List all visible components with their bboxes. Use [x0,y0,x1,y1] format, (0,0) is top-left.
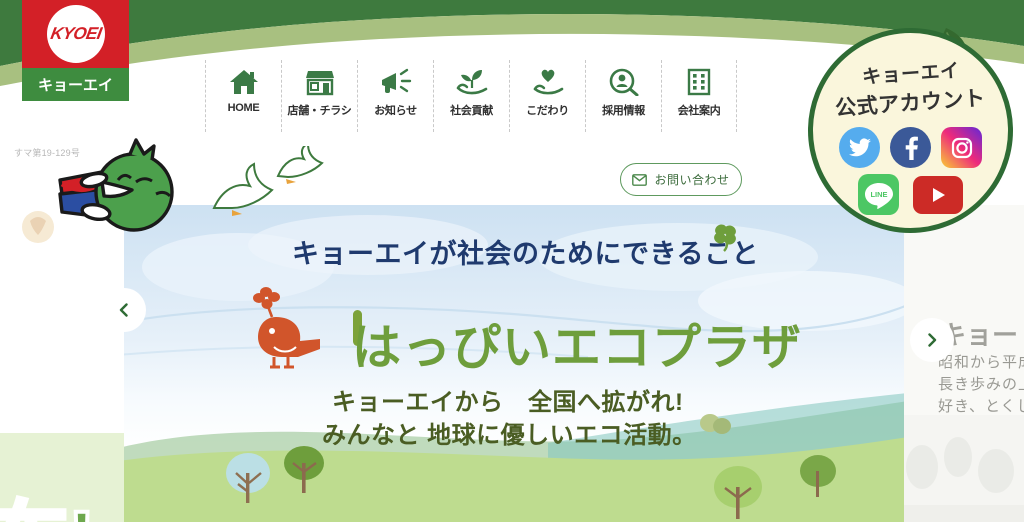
hero-slide-previous[interactable]: 布! 売形態です [0,205,124,522]
twitter-icon[interactable] [839,127,880,168]
logo-wordmark: KYOEI [49,24,103,44]
social-links-row-2: LINE [858,174,963,215]
nav-item-company[interactable]: 会社案内 [661,60,737,132]
registration-number: すマ第19-129号 [14,146,80,159]
hero-title: はっぴいエコプラザ [352,308,802,379]
nav-item-home[interactable]: HOME [205,60,281,132]
logo-name-plate: キョーエイ [22,68,129,101]
nav-item-recruit[interactable]: 採用情報 [585,60,661,132]
site-logo[interactable]: KYOEI キョーエイ [22,0,129,101]
logo-mark: KYOEI [22,0,129,68]
carousel-next-button[interactable] [910,318,954,362]
nav-item-commitment[interactable]: こだわり [509,60,585,132]
prev-slide-headline: 布! [0,473,95,522]
main-navigation: HOME 店舗・チラシ お知らせ [205,60,737,132]
next-slide-line-2: 長き歩みの上 [938,374,1024,396]
instagram-icon[interactable] [941,127,982,168]
mail-icon [632,174,647,186]
nav-item-news-label: お知らせ [374,102,417,118]
contact-button[interactable]: お問い合わせ [620,163,742,196]
official-account-badge: キョーエイ 公式アカウント LINE [808,28,1013,233]
store-icon [305,64,335,100]
hero-eyebrow: キョーエイが社会のためにできること [292,232,759,271]
contact-button-label: お問い合わせ [654,171,729,188]
next-slide-line-1: 昭和から平成 [938,352,1024,374]
page-root: 布! 売形態です キョー 昭和から平成 長き歩みの上 好き、とくし [0,0,1024,522]
nav-item-recruit-label: 採用情報 [602,102,645,118]
nav-item-social-contribution[interactable]: 社会貢献 [433,60,509,132]
home-icon [229,64,259,100]
building-icon [685,64,713,100]
badge-line-2: 公式アカウント [834,82,986,122]
hand-sprout-icon [456,64,488,100]
logo-name-text: キョーエイ [38,74,113,95]
clover-icon [710,222,740,252]
chevron-right-icon [925,333,939,347]
nav-item-store-flyer-label: 店舗・チラシ [288,102,352,118]
line-icon[interactable]: LINE [858,174,899,215]
social-links-row-1 [839,127,982,168]
next-slide-body: 昭和から平成 長き歩みの上 好き、とくし [938,352,1024,417]
hero-subtitle-line-2: みんなと 地球に優しいエコ活動。 [322,415,697,450]
nav-item-store-flyer[interactable]: 店舗・チラシ [281,60,357,132]
nav-item-news[interactable]: お知らせ [357,60,433,132]
svg-text:LINE: LINE [870,190,887,199]
hero-subtitle-line-1: キョーエイから 全国へ拡がれ! [332,382,684,417]
next-slide-line-3: 好き、とくし [938,396,1024,418]
chevron-left-icon [117,303,131,317]
hand-heart-icon [532,64,564,100]
facebook-icon[interactable] [890,127,931,168]
nav-item-commitment-label: こだわり [526,102,569,118]
person-search-icon [609,64,639,100]
flying-birds-decoration [196,146,336,232]
nav-item-company-label: 会社案内 [678,102,721,118]
nav-item-social-contribution-label: 社会貢献 [450,102,493,118]
carousel-prev-button[interactable] [102,288,146,332]
youtube-icon[interactable] [913,176,963,214]
megaphone-icon [380,64,412,100]
nav-item-home-label: HOME [228,102,260,114]
hero-eyebrow-text: キョーエイが社会のためにできること [292,239,759,269]
